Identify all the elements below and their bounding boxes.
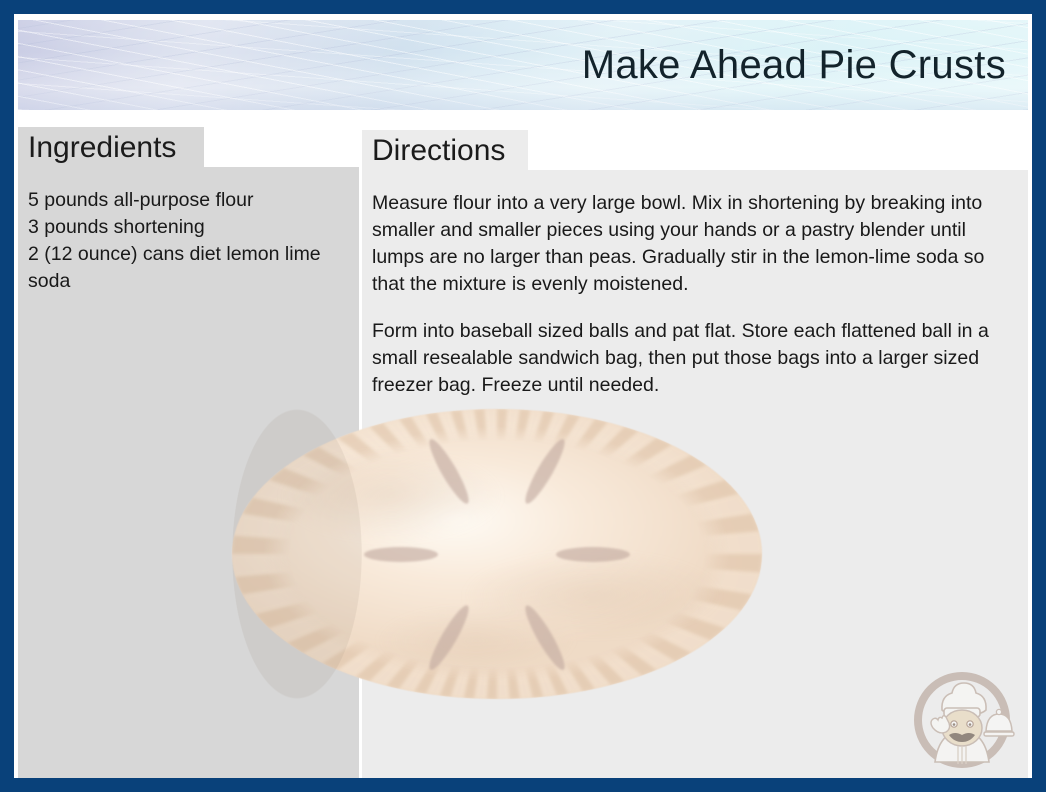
panel-divider [359,127,362,778]
chef-mascot-logo [902,658,1026,776]
recipe-slide: Make Ahead Pie Crusts Ingredients 5 poun… [0,0,1046,792]
list-item: 3 pounds shortening [28,214,345,241]
directions-text: Measure flour into a very large bowl. Mi… [362,170,1028,399]
page-title: Make Ahead Pie Crusts [582,43,1006,87]
ingredients-heading-tab: Ingredients [18,127,204,169]
ingredients-heading-label: Ingredients [28,133,176,163]
slide-header-band: Make Ahead Pie Crusts [18,20,1028,110]
list-item: 5 pounds all-purpose flour [28,187,345,214]
directions-heading-label: Directions [372,136,505,166]
directions-paragraph: Form into baseball sized balls and pat f… [372,318,1014,399]
ingredients-list: 5 pounds all-purpose flour 3 pounds shor… [18,167,359,295]
ingredients-panel: Ingredients 5 pounds all-purpose flour 3… [18,127,359,778]
ingredients-body: 5 pounds all-purpose flour 3 pounds shor… [18,167,359,778]
slide-content-area: Make Ahead Pie Crusts Ingredients 5 poun… [14,14,1032,778]
directions-heading-tab: Directions [362,130,528,172]
directions-paragraph: Measure flour into a very large bowl. Mi… [372,190,1014,298]
list-item: 2 (12 ounce) cans diet lemon lime soda [28,241,345,295]
